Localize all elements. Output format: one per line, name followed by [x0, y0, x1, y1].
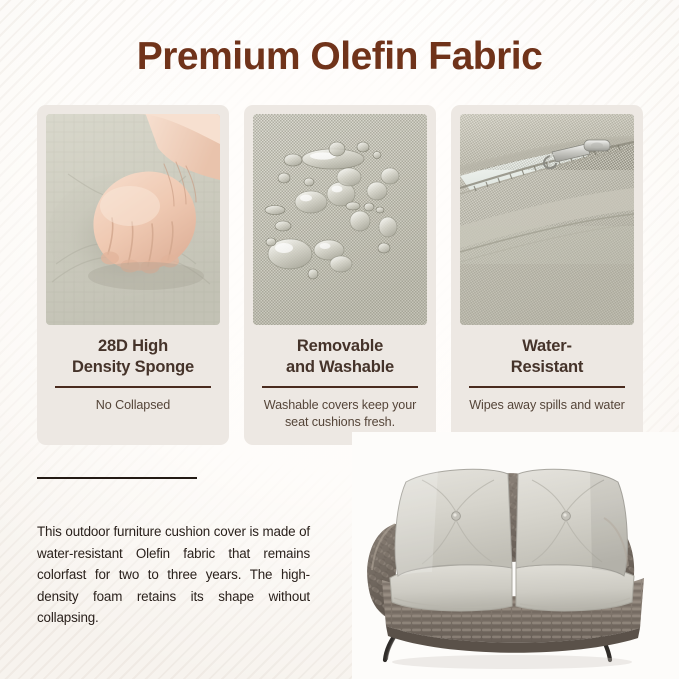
card-title: 28D High Density Sponge: [72, 336, 194, 378]
feature-cards-row: 28D High Density Sponge No Collapsed: [37, 105, 643, 445]
page-title: Premium Olefin Fabric: [0, 34, 679, 80]
card-divider: [469, 386, 625, 388]
fist-pressing-cushion-photo: [46, 114, 220, 325]
feature-card-removable-washable: Removable and Washable Washable covers k…: [244, 105, 436, 445]
wicker-loveseat-photo: [352, 432, 679, 679]
description-paragraph: This outdoor furniture cushion cover is …: [37, 521, 310, 629]
card-subtitle: Wipes away spills and water: [465, 397, 629, 414]
card-divider: [262, 386, 418, 388]
card-title: Removable and Washable: [286, 336, 394, 378]
section-divider: [37, 477, 197, 479]
card-title-line-2: Resistant: [511, 358, 583, 376]
card-divider: [55, 386, 211, 388]
card-title-line-2: Density Sponge: [72, 358, 194, 376]
infographic-page: Premium Olefin Fabric: [0, 0, 679, 679]
water-droplets-fabric-photo: [253, 114, 427, 325]
card-subtitle: Washable covers keep your seat cushions …: [253, 397, 427, 431]
card-title-line-1: 28D High: [98, 337, 168, 355]
card-subtitle: No Collapsed: [92, 397, 174, 414]
card-title-line-1: Water-: [522, 337, 572, 355]
feature-card-water-resistant: Water- Resistant Wipes away spills and w…: [451, 105, 643, 445]
card-title-line-1: Removable: [297, 337, 383, 355]
card-title: Water- Resistant: [511, 336, 583, 378]
feature-card-density-sponge: 28D High Density Sponge No Collapsed: [37, 105, 229, 445]
card-title-line-2: and Washable: [286, 358, 394, 376]
zipper-cushion-cover-photo: [460, 114, 634, 325]
